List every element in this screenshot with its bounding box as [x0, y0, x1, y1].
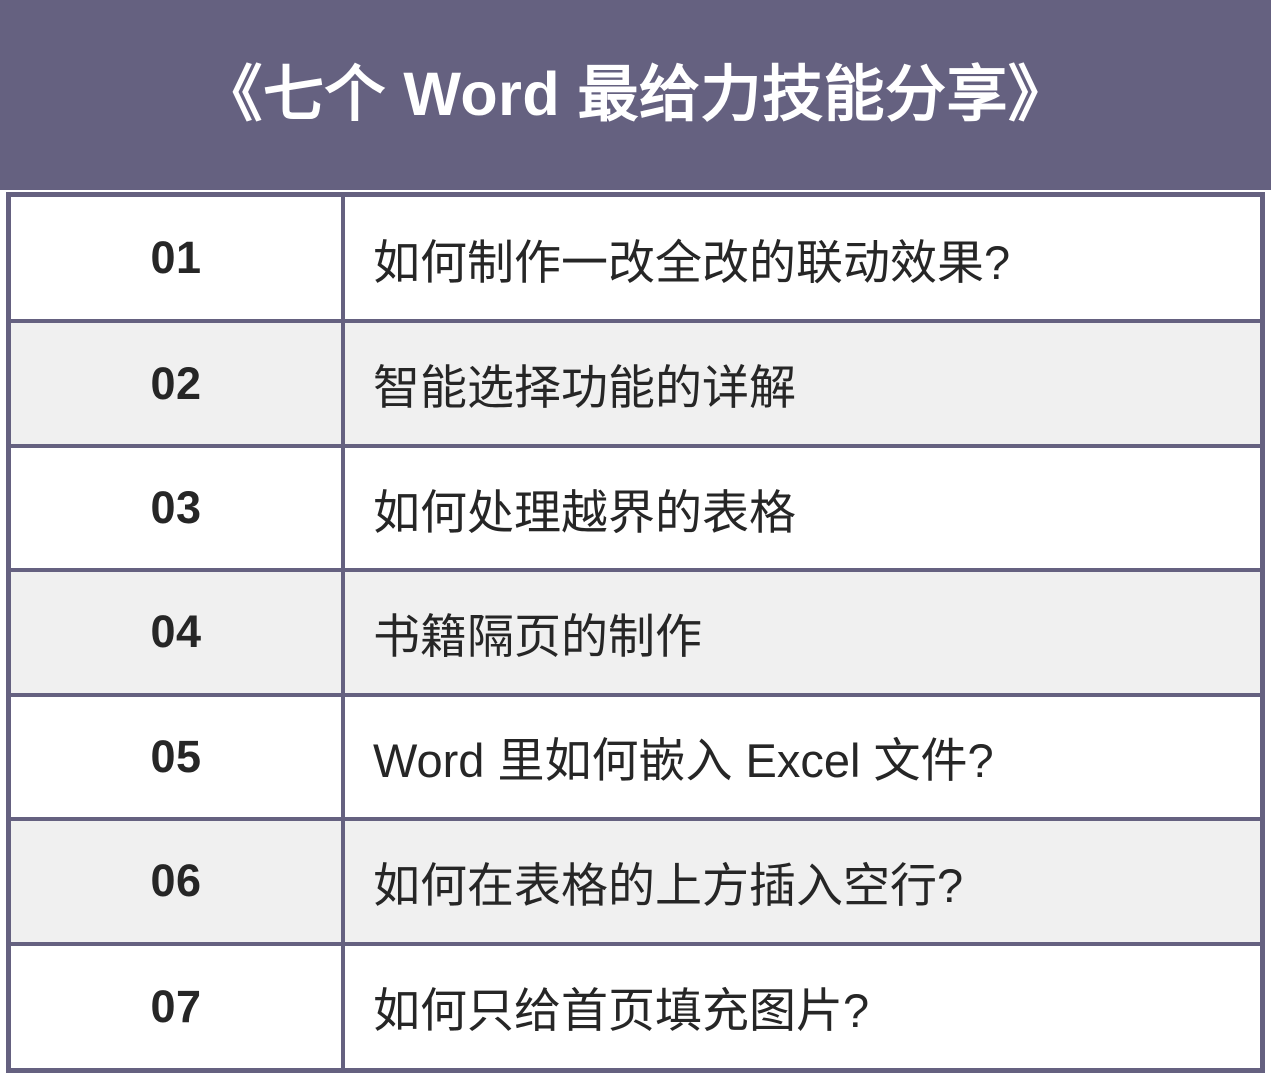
skills-table-body: 01 如何制作一改全改的联动效果? 02 智能选择功能的详解 — [11, 197, 1260, 1068]
table-row[interactable]: 06 如何在表格的上方插入空行? — [11, 819, 1260, 943]
row-number-cell: 06 — [11, 819, 343, 943]
row-title-cell: 书籍隔页的制作 — [343, 570, 1260, 694]
row-title: Word 里如何嵌入 Excel 文件? — [373, 734, 994, 787]
row-number-cell: 02 — [11, 321, 343, 445]
page-root: 《七个 Word 最给力技能分享》 01 如何制作一改全改的联动效果? 02 — [0, 0, 1271, 1079]
row-number-cell: 03 — [11, 446, 343, 570]
row-number-cell: 05 — [11, 695, 343, 819]
row-number-cell: 04 — [11, 570, 343, 694]
skills-table: 01 如何制作一改全改的联动效果? 02 智能选择功能的详解 — [11, 197, 1260, 1068]
row-number: 03 — [150, 482, 201, 533]
row-title-cell: 如何只给首页填充图片? — [343, 944, 1260, 1068]
table-row[interactable]: 03 如何处理越界的表格 — [11, 446, 1260, 570]
row-title: 如何处理越界的表格 — [373, 486, 796, 539]
row-title-cell: 智能选择功能的详解 — [343, 321, 1260, 445]
table-row[interactable]: 01 如何制作一改全改的联动效果? — [11, 197, 1260, 321]
row-number: 06 — [150, 855, 201, 906]
row-title: 如何在表格的上方插入空行? — [373, 859, 963, 912]
table-row[interactable]: 04 书籍隔页的制作 — [11, 570, 1260, 694]
row-number: 07 — [150, 981, 201, 1032]
row-title-cell: 如何制作一改全改的联动效果? — [343, 197, 1260, 321]
row-title-cell: 如何在表格的上方插入空行? — [343, 819, 1260, 943]
row-title-cell: Word 里如何嵌入 Excel 文件? — [343, 695, 1260, 819]
row-number-cell: 01 — [11, 197, 343, 321]
table-row[interactable]: 07 如何只给首页填充图片? — [11, 944, 1260, 1068]
row-number: 05 — [150, 731, 201, 782]
row-title: 书籍隔页的制作 — [373, 610, 702, 663]
row-title: 智能选择功能的详解 — [373, 361, 796, 414]
skills-table-container: 01 如何制作一改全改的联动效果? 02 智能选择功能的详解 — [6, 192, 1265, 1073]
row-number: 02 — [150, 358, 201, 409]
row-title: 如何制作一改全改的联动效果? — [373, 236, 1010, 289]
title-banner: 《七个 Word 最给力技能分享》 — [0, 0, 1271, 190]
row-number-cell: 07 — [11, 944, 343, 1068]
row-title-cell: 如何处理越界的表格 — [343, 446, 1260, 570]
row-title: 如何只给首页填充图片? — [373, 984, 869, 1037]
table-row[interactable]: 02 智能选择功能的详解 — [11, 321, 1260, 445]
row-number: 04 — [150, 606, 201, 657]
page-title: 《七个 Word 最给力技能分享》 — [201, 61, 1069, 128]
table-row[interactable]: 05 Word 里如何嵌入 Excel 文件? — [11, 695, 1260, 819]
row-number: 01 — [150, 232, 201, 283]
